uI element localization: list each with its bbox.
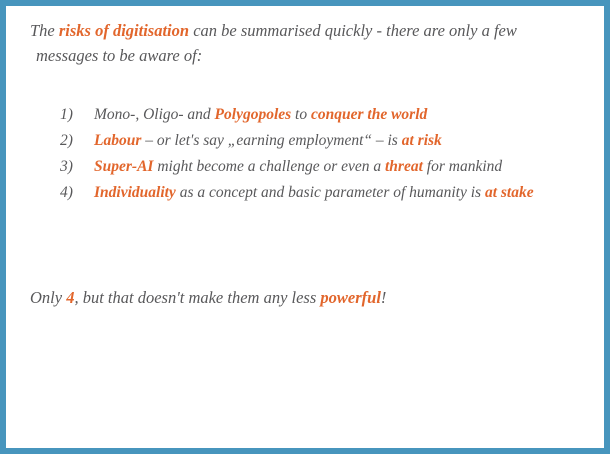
closing-pre: Only: [30, 288, 66, 307]
list-item-number: 4): [30, 184, 94, 202]
list-item-accent-secondary: conquer the world: [311, 106, 427, 123]
intro-line1-pre: The: [30, 21, 59, 40]
list-item: 2) Labour – or let's say „earning employ…: [30, 132, 608, 158]
list-item-text: Individuality as a concept and basic par…: [94, 184, 608, 202]
intro-line2: messages to be aware of:: [30, 43, 592, 68]
closing-post: !: [381, 288, 387, 307]
intro-accent-risks: risks of digitisation: [59, 21, 189, 40]
list-item-accent-primary: Labour: [94, 132, 141, 149]
slide-canvas: The risks of digitisation can be summari…: [6, 6, 604, 448]
list-item-accent-secondary: at risk: [402, 132, 442, 149]
list-item-mid: as a concept and basic parameter of huma…: [176, 184, 485, 201]
list-item: 3) Super-AI might become a challenge or …: [30, 158, 608, 184]
closing-accent-powerful: powerful: [320, 288, 381, 307]
list-item-number: 3): [30, 158, 94, 176]
list-item-number: 2): [30, 132, 94, 150]
list-item-text: Super-AI might become a challenge or eve…: [94, 158, 608, 176]
list-item: 1) Mono-, Oligo- and Polygopoles to conq…: [30, 106, 608, 132]
list-item-number: 1): [30, 106, 94, 124]
slide-frame: The risks of digitisation can be summari…: [0, 0, 610, 454]
list-item-post: for mankind: [423, 158, 502, 175]
risk-list: 1) Mono-, Oligo- and Polygopoles to conq…: [30, 106, 608, 210]
list-item-mid: – or let's say „earning employment“ – is: [141, 132, 401, 149]
list-item-mid: might become a challenge or even a: [153, 158, 385, 175]
list-item-accent-primary: Polygopoles: [215, 106, 292, 123]
closing-mid: , but that doesn't make them any less: [74, 288, 320, 307]
list-item-accent-secondary: threat: [385, 158, 423, 175]
list-item-accent-secondary: at stake: [485, 184, 534, 201]
intro-line1-post: can be summarised quickly - there are on…: [189, 21, 517, 40]
list-item-mid: to: [291, 106, 311, 123]
intro-paragraph: The risks of digitisation can be summari…: [30, 18, 592, 68]
list-item-text: Labour – or let's say „earning employmen…: [94, 132, 608, 150]
list-item-pre: Mono-, Oligo- and: [94, 106, 215, 123]
list-item-accent-primary: Super-AI: [94, 158, 153, 175]
closing-line: Only 4, but that doesn't make them any l…: [30, 286, 386, 310]
list-item-text: Mono-, Oligo- and Polygopoles to conquer…: [94, 106, 608, 124]
list-item-accent-primary: Individuality: [94, 184, 176, 201]
list-item: 4) Individuality as a concept and basic …: [30, 184, 608, 210]
